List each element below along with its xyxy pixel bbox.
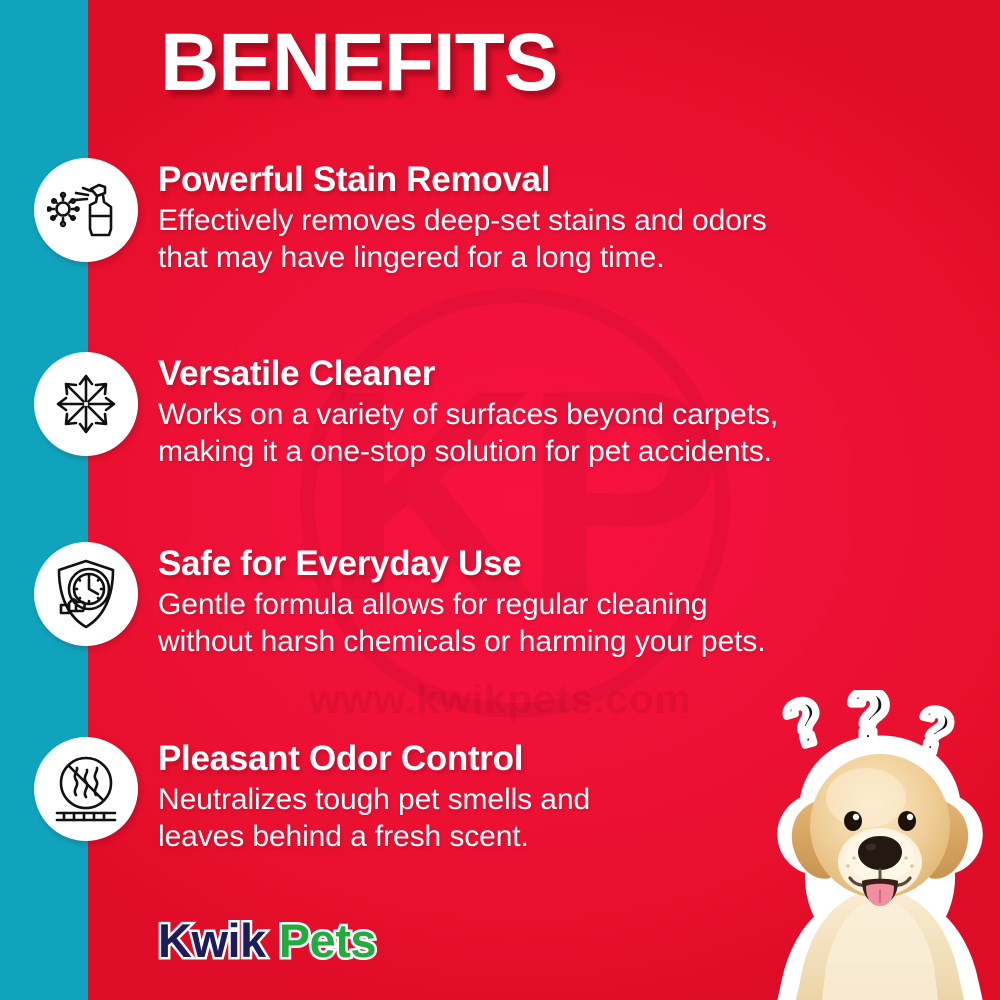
- benefit-title: Powerful Stain Removal: [158, 160, 767, 201]
- benefit-item-safe-everyday: Safe for Everyday Use Gentle formula all…: [0, 542, 960, 661]
- brand-logo-kwik: Kwik: [158, 913, 266, 968]
- benefit-title: Safe for Everyday Use: [158, 544, 765, 585]
- question-marks-icon: [768, 690, 998, 766]
- page-title: BENEFITS: [160, 22, 557, 104]
- benefit-description: Neutralizes tough pet smells and leaves …: [158, 781, 590, 857]
- poster-canvas: KP www.kwikpets.com BENEFITS: [0, 0, 1000, 1000]
- benefit-item-stain-removal: Powerful Stain Removal Effectively remov…: [0, 158, 960, 277]
- no-odor-icon: [34, 737, 138, 841]
- golden-retriever-puppy-image: [754, 690, 1000, 1000]
- benefit-text-block: Pleasant Odor Control Neutralizes tough …: [158, 737, 590, 856]
- benefit-title: Versatile Cleaner: [158, 354, 778, 395]
- brand-logo-pets: Pets: [279, 913, 376, 968]
- multi-direction-arrows-icon: [34, 352, 138, 456]
- benefit-description: Gentle formula allows for regular cleani…: [158, 586, 765, 662]
- brand-logo[interactable]: Kwik Pets: [158, 913, 376, 968]
- shield-clock-thumbsup-icon: [34, 542, 138, 646]
- benefit-text-block: Versatile Cleaner Works on a variety of …: [158, 352, 778, 471]
- benefit-description: Effectively removes deep-set stains and …: [158, 202, 767, 278]
- spray-bottle-icon: [34, 158, 138, 262]
- benefit-description: Works on a variety of surfaces beyond ca…: [158, 396, 778, 472]
- benefit-title: Pleasant Odor Control: [158, 739, 590, 780]
- benefit-item-versatile-cleaner: Versatile Cleaner Works on a variety of …: [0, 352, 960, 471]
- benefit-text-block: Powerful Stain Removal Effectively remov…: [158, 158, 767, 277]
- benefit-text-block: Safe for Everyday Use Gentle formula all…: [158, 542, 765, 661]
